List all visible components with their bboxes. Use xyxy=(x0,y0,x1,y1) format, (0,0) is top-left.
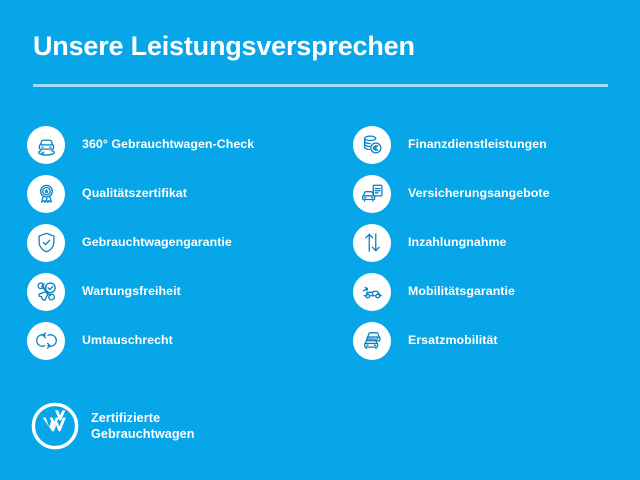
feature-item[interactable]: Finanzdienstleistungen xyxy=(353,120,628,169)
header-divider xyxy=(33,84,608,87)
shield-check-icon xyxy=(27,224,65,262)
car-insurance-document-icon xyxy=(353,175,391,213)
quality-award-rosette-icon xyxy=(27,175,65,213)
brand-line-1: Zertifizierte xyxy=(91,411,160,425)
features-left-column: 360° Gebrauchtwagen-Check Qualitätszerti… xyxy=(27,120,327,365)
volkswagen-logo xyxy=(30,401,80,451)
feature-item[interactable]: 360° Gebrauchtwagen-Check xyxy=(27,120,327,169)
coins-euro-icon xyxy=(353,126,391,164)
feature-label: Gebrauchtwagengarantie xyxy=(82,235,232,250)
feature-item[interactable]: Mobilitätsgarantie xyxy=(353,267,628,316)
leistungsversprechen-panel: Unsere Leistungsversprechen 360° Gebrauc… xyxy=(0,0,640,480)
feature-item[interactable]: Wartungsfreiheit xyxy=(27,267,327,316)
feature-item[interactable]: Ersatzmobilität xyxy=(353,316,628,365)
feature-label: Wartungsfreiheit xyxy=(82,284,181,299)
feature-item[interactable]: Inzahlungnahme xyxy=(353,218,628,267)
feature-item[interactable]: Versicherungsangebote xyxy=(353,169,628,218)
feature-label: Mobilitätsgarantie xyxy=(408,284,515,299)
feature-label: 360° Gebrauchtwagen-Check xyxy=(82,137,254,152)
features-right-column: Finanzdienstleistungen Versicherungsange… xyxy=(353,120,628,365)
feature-item[interactable]: Gebrauchtwagengarantie xyxy=(27,218,327,267)
feature-label: Finanzdienstleistungen xyxy=(408,137,547,152)
header: Unsere Leistungsversprechen xyxy=(33,30,608,63)
exchange-arrows-icon xyxy=(27,322,65,360)
two-cars-icon xyxy=(353,322,391,360)
features-grid: 360° Gebrauchtwagen-Check Qualitätszerti… xyxy=(0,120,640,365)
feature-item[interactable]: Qualitätszertifikat xyxy=(27,169,327,218)
feature-label: Ersatzmobilität xyxy=(408,333,498,348)
feature-label: Umtauschrecht xyxy=(82,333,173,348)
car-360-check-icon xyxy=(27,126,65,164)
tow-truck-icon xyxy=(353,273,391,311)
wrench-check-icon xyxy=(27,273,65,311)
brand-lockup: Zertifizierte Gebrauchtwagen xyxy=(30,401,195,451)
feature-label: Inzahlungnahme xyxy=(408,235,506,250)
brand-line-2: Gebrauchtwagen xyxy=(91,427,195,441)
brand-lockup-text: Zertifizierte Gebrauchtwagen xyxy=(91,410,195,442)
feature-label: Versicherungsangebote xyxy=(408,186,550,201)
feature-label: Qualitätszertifikat xyxy=(82,186,187,201)
page-title: Unsere Leistungsversprechen xyxy=(33,30,608,63)
feature-item[interactable]: Umtauschrecht xyxy=(27,316,327,365)
up-down-arrows-icon xyxy=(353,224,391,262)
